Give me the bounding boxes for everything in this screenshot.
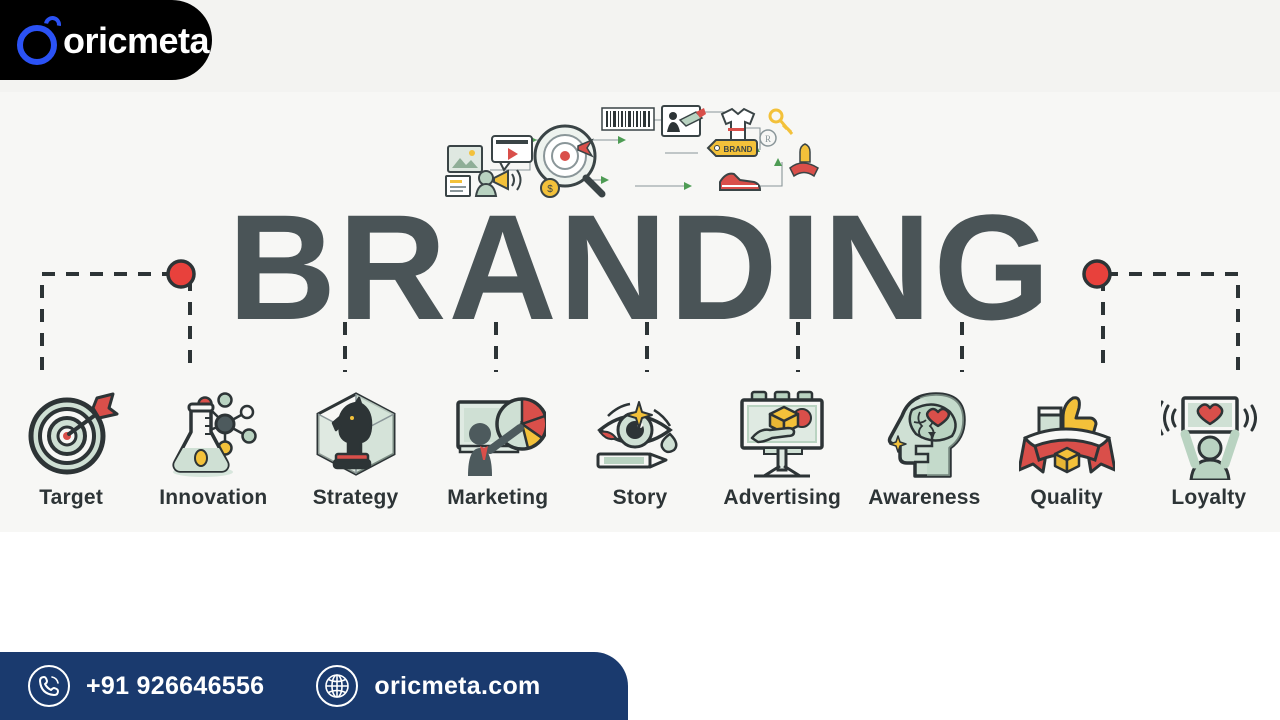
pillar-loyalty[interactable]: Loyalty bbox=[1138, 370, 1280, 510]
flask-molecule-icon bbox=[165, 388, 261, 480]
key-icon bbox=[770, 110, 792, 134]
eye-pencil-icon bbox=[592, 388, 688, 480]
contact-phone[interactable]: +91 926646556 bbox=[28, 665, 264, 707]
hero-banner: $ bbox=[0, 92, 1280, 532]
brand-tag-icon: BRAND bbox=[708, 140, 757, 156]
pillar-label: Story bbox=[613, 486, 668, 510]
svg-text:BRAND: BRAND bbox=[724, 145, 753, 154]
pillar-advertising[interactable]: Advertising bbox=[711, 370, 853, 510]
pillar-label: Innovation bbox=[159, 486, 267, 510]
pillar-label: Awareness bbox=[868, 486, 980, 510]
registered-mark-icon: R bbox=[760, 130, 776, 146]
globe-glyph bbox=[324, 673, 350, 699]
pillar-target[interactable]: Target bbox=[0, 370, 142, 510]
contact-website[interactable]: oricmeta.com bbox=[316, 665, 540, 707]
pillar-awareness[interactable]: Awareness bbox=[853, 370, 995, 510]
pillar-label: Marketing bbox=[447, 486, 548, 510]
person-heart-sign-icon bbox=[1161, 388, 1257, 480]
head-brain-heart-icon bbox=[876, 388, 972, 480]
logo-pill[interactable]: oricmeta bbox=[0, 0, 212, 80]
pillar-label: Loyalty bbox=[1171, 486, 1246, 510]
svg-text:R: R bbox=[765, 134, 771, 144]
ring-crescent-icon bbox=[14, 16, 62, 64]
chess-knight-hexagon-icon bbox=[308, 388, 404, 480]
pillar-quality[interactable]: Quality bbox=[996, 370, 1138, 510]
pillar-label: Advertising bbox=[723, 486, 841, 510]
image-tile-icon bbox=[448, 146, 482, 172]
page-title: BRANDING bbox=[0, 192, 1280, 342]
pillar-label: Strategy bbox=[313, 486, 399, 510]
thumbs-ribbon-mini-icon bbox=[790, 144, 818, 176]
phone-glyph bbox=[37, 674, 61, 698]
logo-wordmark: oricmeta bbox=[63, 23, 209, 59]
pillar-label: Target bbox=[39, 486, 103, 510]
thumbs-up-ribbon-icon bbox=[1019, 388, 1115, 480]
top-strip: oricmeta bbox=[0, 0, 1280, 92]
globe-icon bbox=[316, 665, 358, 707]
barcode-icon bbox=[602, 108, 654, 130]
pillar-marketing[interactable]: Marketing bbox=[427, 370, 569, 510]
billboard-box-icon bbox=[734, 388, 830, 480]
phone-icon bbox=[28, 665, 70, 707]
video-player-icon bbox=[492, 136, 532, 170]
pillar-story[interactable]: Story bbox=[569, 370, 711, 510]
pillar-strategy[interactable]: Strategy bbox=[284, 370, 426, 510]
pillar-label: Quality bbox=[1030, 486, 1103, 510]
presenter-piechart-icon bbox=[450, 388, 546, 480]
pillar-innovation[interactable]: Innovation bbox=[142, 370, 284, 510]
phone-number: +91 926646556 bbox=[86, 672, 264, 701]
presenter-photo-icon bbox=[662, 106, 706, 136]
target-dartboard-icon bbox=[23, 388, 119, 480]
contact-bar: +91 926646556 oricmeta.com bbox=[0, 652, 628, 720]
tshirt-icon bbox=[722, 109, 754, 142]
branding-pillars-row: Target bbox=[0, 370, 1280, 510]
website-url: oricmeta.com bbox=[374, 672, 540, 701]
